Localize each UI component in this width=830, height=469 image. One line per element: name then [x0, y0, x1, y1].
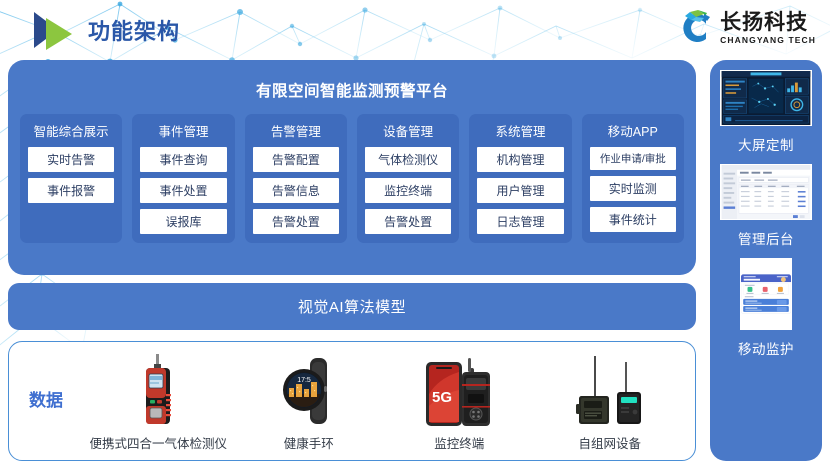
column-title: 智能综合展示	[34, 121, 109, 140]
module-item[interactable]: 气体检测仪	[365, 147, 451, 172]
module-item[interactable]: 告警处置	[253, 209, 339, 234]
device-name: 自组网设备	[535, 433, 685, 452]
module-item[interactable]: 事件统计	[590, 207, 676, 232]
module-column-intelligent-display: 智能综合展示 实时告警 事件报警	[20, 114, 122, 243]
module-item[interactable]: 事件报警	[28, 178, 114, 203]
device-item-monitor-terminal: 5G 监控终端	[384, 352, 534, 452]
brand-name-cn: 长扬科技	[720, 12, 816, 33]
device-list: 便携式四合一气体检测仪	[83, 342, 695, 460]
sidebar-card-big-screen[interactable]: 大屏定制	[720, 70, 812, 158]
mobile-app-thumbnail	[740, 258, 792, 330]
module-item[interactable]: 机构管理	[477, 147, 563, 172]
platform-panel: 有限空间智能监测预警平台 智能综合展示 实时告警 事件报警 事件管理 事件查询 …	[8, 60, 696, 275]
mesh-radio-icon	[535, 352, 685, 428]
page-header: 功能架构 长扬科技 CHANGYANG TECH	[0, 0, 830, 58]
module-item[interactable]: 实时监测	[590, 176, 676, 201]
module-column-system-management: 系统管理 机构管理 用户管理 日志管理	[469, 114, 571, 243]
module-item[interactable]: 实时告警	[28, 147, 114, 172]
admin-console-thumbnail	[720, 164, 812, 220]
data-layer-panel: 数据	[8, 341, 696, 461]
module-item[interactable]: 监控终端	[365, 178, 451, 203]
play-triangle-icon	[28, 10, 80, 50]
big-screen-dashboard-thumbnail	[720, 70, 812, 126]
device-name: 监控终端	[384, 433, 534, 452]
device-name: 健康手环	[234, 433, 384, 452]
brand-name-en: CHANGYANG TECH	[720, 36, 816, 45]
module-item[interactable]: 作业申请/审批	[590, 147, 676, 170]
sidebar-caption: 移动监护	[738, 338, 794, 358]
module-item[interactable]: 告警处置	[365, 209, 451, 234]
svg-text:5G: 5G	[432, 389, 452, 406]
device-name: 便携式四合一气体检测仪	[83, 433, 233, 452]
sidebar-caption: 大屏定制	[738, 134, 794, 154]
sidebar-card-admin-console[interactable]: 管理后台	[720, 164, 812, 252]
changyang-c-logo-icon	[674, 8, 714, 48]
column-title: 移动APP	[608, 121, 658, 140]
column-title: 事件管理	[158, 121, 208, 140]
brand-logo: 长扬科技 CHANGYANG TECH	[674, 8, 816, 48]
device-item-health-watch: 17:5 健康手环	[234, 352, 384, 452]
module-column-alarm-management: 告警管理 告警配置 告警信息 告警处置	[245, 114, 347, 243]
module-item[interactable]: 用户管理	[477, 178, 563, 203]
sidebar-caption: 管理后台	[738, 228, 794, 248]
platform-title: 有限空间智能监测预警平台	[20, 68, 684, 114]
ai-layer-band: 视觉AI算法模型	[8, 283, 696, 330]
sidebar-card-mobile-monitor[interactable]: 移动监护	[738, 258, 794, 362]
module-columns: 智能综合展示 实时告警 事件报警 事件管理 事件查询 事件处置 误报库 告警管理…	[20, 114, 684, 243]
column-title: 系统管理	[495, 121, 545, 140]
module-column-mobile-app: 移动APP 作业申请/审批 实时监测 事件统计	[582, 114, 684, 243]
module-item[interactable]: 告警配置	[253, 147, 339, 172]
module-item[interactable]: 日志管理	[477, 209, 563, 234]
page-title: 功能架构	[88, 14, 180, 46]
module-item[interactable]: 事件查询	[140, 147, 226, 172]
device-item-mesh-network: 自组网设备	[535, 352, 685, 452]
data-layer-label: 数据	[9, 342, 83, 460]
module-item[interactable]: 事件处置	[140, 178, 226, 203]
module-item[interactable]: 误报库	[140, 209, 226, 234]
column-title: 设备管理	[383, 121, 433, 140]
gas-detector-icon	[83, 352, 233, 428]
ai-layer-title: 视觉AI算法模型	[298, 296, 406, 317]
device-item-gas-detector: 便携式四合一气体检测仪	[83, 352, 233, 452]
module-column-device-management: 设备管理 气体检测仪 监控终端 告警处置	[357, 114, 459, 243]
delivery-sidebar: 大屏定制	[710, 60, 822, 461]
rugged-phone-radio-icon: 5G	[384, 352, 534, 428]
module-column-event-management: 事件管理 事件查询 事件处置 误报库	[132, 114, 234, 243]
smartwatch-icon: 17:5	[234, 352, 384, 428]
svg-text:17:5: 17:5	[297, 377, 311, 384]
column-title: 告警管理	[271, 121, 321, 140]
module-item[interactable]: 告警信息	[253, 178, 339, 203]
